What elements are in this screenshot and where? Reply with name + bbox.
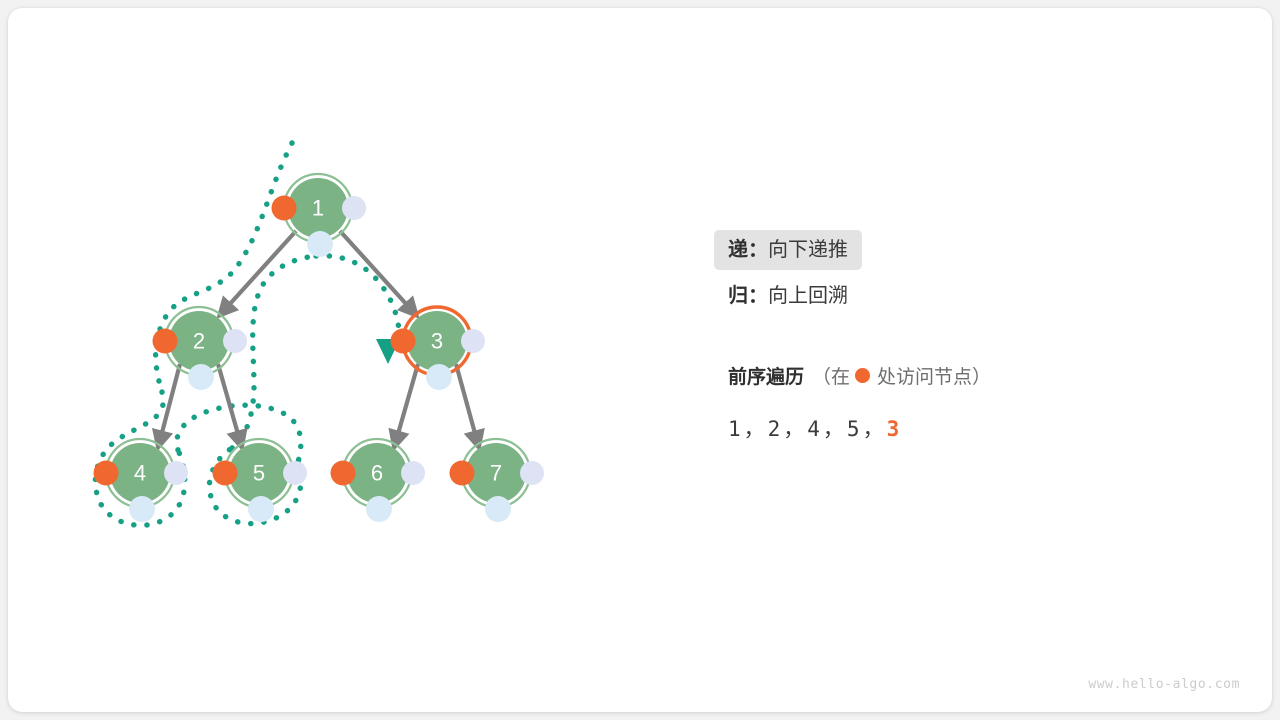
node-visit-dot [94,461,119,486]
screenshot-root: 1234567 递： 向下递推 归： 向上回溯 前序遍历 （在 处访问节点） 1… [0,0,1280,720]
node-visit-dot [450,461,475,486]
node-right-dot [223,329,247,353]
node-bottom-dot [248,496,274,522]
traversal-title-prefix: （在 [812,362,850,389]
node-label: 3 [431,329,443,354]
traversal-title: 前序遍历 （在 处访问节点） [728,362,1208,389]
binary-tree-diagram: 1234567 [0,0,1280,720]
visit-marker-dot [855,368,870,383]
tree-node-3[interactable]: 3 [391,307,486,390]
legend-return-value: 向上回溯 [768,286,848,306]
tree-node-5[interactable]: 5 [213,439,308,522]
node-bottom-dot [307,231,333,257]
node-visit-dot [391,329,416,354]
node-label: 2 [193,329,205,354]
legend-descend-key: 递： [728,240,768,260]
legend-item-descend: 递： 向下递推 [714,230,862,270]
node-bottom-dot [129,496,155,522]
node-bottom-dot [485,496,511,522]
node-label: 1 [312,196,324,221]
node-bottom-dot [188,364,214,390]
node-right-dot [164,461,188,485]
traversal-panel: 前序遍历 （在 处访问节点） 1，2，4，5，3 [728,362,1208,443]
traversal-title-suffix: 处访问节点） [877,362,991,389]
edge-3-7 [456,364,479,448]
node-right-dot [461,329,485,353]
traversal-sequence-current: 3 [887,417,903,441]
node-right-dot [283,461,307,485]
legend-item-return: 归： 向上回溯 [714,276,1198,316]
legend-descend-value: 向下递推 [768,240,848,260]
recursion-legend: 递： 向下递推 归： 向上回溯 [728,230,1198,316]
node-bottom-dot [426,364,452,390]
site-watermark: www.hello-algo.com [1088,677,1240,692]
traversal-sequence-visited: 1，2，4，5， [728,417,887,441]
edge-2-5 [218,364,242,448]
node-right-dot [520,461,544,485]
tree-node-4[interactable]: 4 [94,439,189,522]
tree-node-7[interactable]: 7 [450,439,545,522]
node-label: 6 [371,461,383,486]
node-right-dot [401,461,425,485]
node-label: 4 [134,461,146,486]
node-visit-dot [213,461,238,486]
traversal-sequence: 1，2，4，5，3 [728,413,1208,443]
edge-1-3 [340,231,417,316]
legend-return-key: 归： [728,286,768,306]
node-visit-dot [331,461,356,486]
node-label: 7 [490,461,502,486]
node-bottom-dot [366,496,392,522]
path-segment-root-to-right [316,256,400,348]
node-label: 5 [253,461,265,486]
node-visit-dot [272,196,297,221]
traversal-title-name: 前序遍历 [728,362,804,389]
node-visit-dot [153,329,178,354]
node-right-dot [342,196,366,220]
tree-node-6[interactable]: 6 [331,439,426,522]
tree-nodes: 1234567 [94,174,545,522]
edge-3-6 [394,364,418,448]
